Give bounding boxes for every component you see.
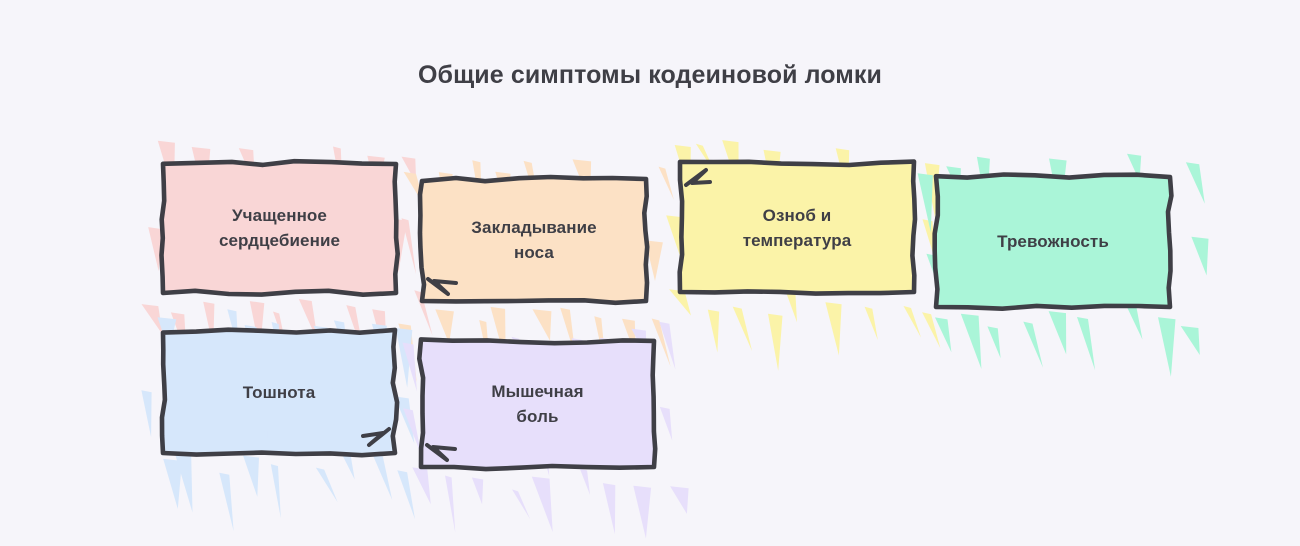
card-anxiety[interactable]: Тревожность <box>936 176 1170 307</box>
card-anxiety-fill <box>918 154 1209 377</box>
card-nausea-shape <box>137 305 421 479</box>
card-anxiety-shape <box>910 150 1196 333</box>
card-nasal-congestion-shape <box>396 153 672 327</box>
card-nasal-congestion[interactable]: Закладывание носа <box>422 179 646 301</box>
card-chills-fever-fill <box>666 140 940 371</box>
card-rapid-heartbeat[interactable]: Учащенное сердцебиение <box>163 163 396 293</box>
card-nausea-fill <box>141 309 415 531</box>
card-muscle-pain[interactable]: Мышечная боль <box>421 341 654 467</box>
page-title: Общие симптомы кодеиновой ломки <box>0 58 1300 92</box>
card-chills-fever[interactable]: Озноб и температура <box>680 163 914 292</box>
card-rapid-heartbeat-shape <box>137 137 422 319</box>
card-nausea[interactable]: Тошнота <box>163 331 395 453</box>
card-muscle-pain-shape <box>395 315 680 493</box>
card-chills-fever-shape <box>654 137 940 318</box>
card-muscle-pain-fill <box>403 322 689 539</box>
infographic-canvas: Общие симптомы кодеиновой ломки Учащенно… <box>0 0 1300 546</box>
